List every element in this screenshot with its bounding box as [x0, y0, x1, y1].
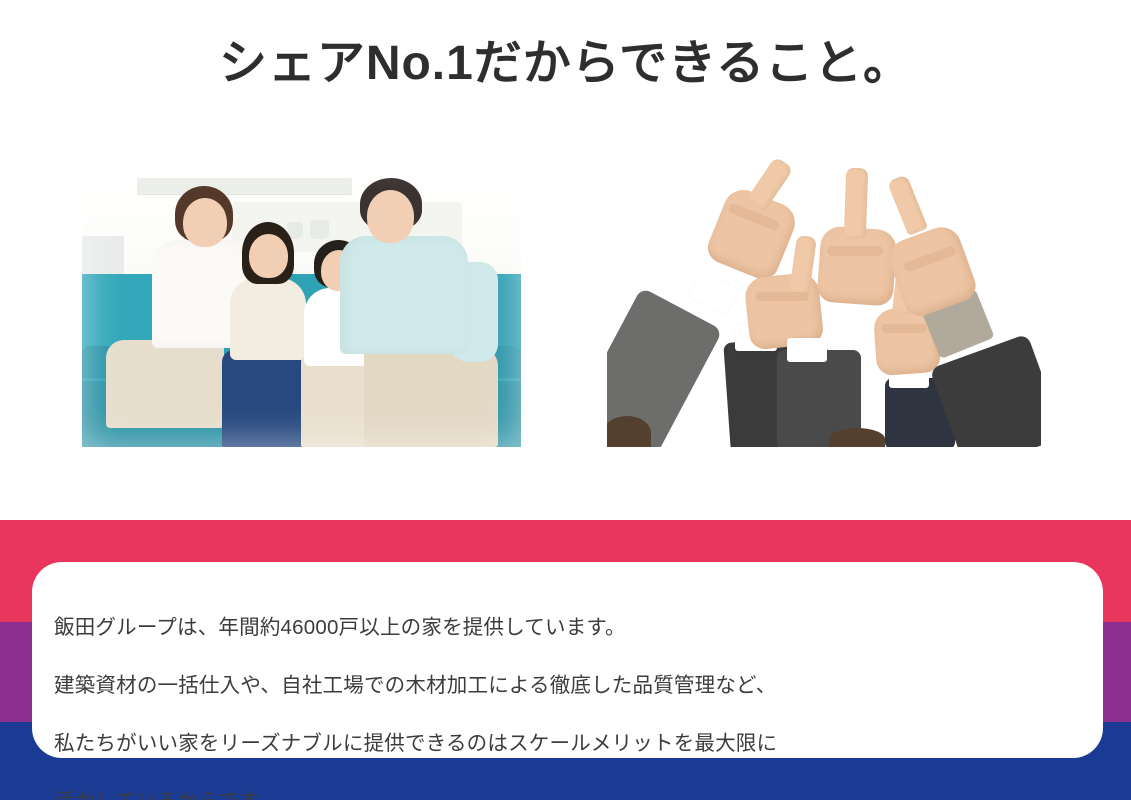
page-title: シェアNo.1だからできること。: [0, 34, 1131, 94]
info-line: 飯田グループは、年間約46000戸以上の家を提供しています。: [54, 613, 1083, 642]
photo-soft-light: [82, 150, 521, 447]
knuckles: [827, 246, 883, 256]
photo-row: [0, 150, 1131, 450]
pointing-hands-photo: [607, 150, 1041, 447]
index-finger: [746, 156, 793, 211]
family-photo: [82, 150, 521, 447]
info-card: 飯田グループは、年間約46000戸以上の家を提供しています。 建築資材の一括仕入…: [32, 562, 1103, 758]
cuff: [688, 270, 739, 316]
cuff: [787, 338, 827, 362]
index-finger: [844, 168, 868, 239]
head-top-left: [607, 416, 651, 447]
info-line: 建築資材の一括仕入や、自社工場での木材加工による徹底した品質管理など、: [54, 671, 1083, 700]
landing-page: シェアNo.1だからできること。: [0, 0, 1131, 800]
info-line: 活かしているからです。: [54, 787, 1083, 800]
knuckles: [755, 292, 809, 301]
knuckles: [881, 324, 927, 333]
info-card-text: 飯田グループは、年間約46000戸以上の家を提供しています。 建築資材の一括仕入…: [54, 584, 1083, 800]
info-line: 私たちがいい家をリーズナブルに提供できるのはスケールメリットを最大限に: [54, 729, 1083, 758]
index-finger: [887, 174, 928, 236]
head-top-center: [829, 428, 885, 447]
